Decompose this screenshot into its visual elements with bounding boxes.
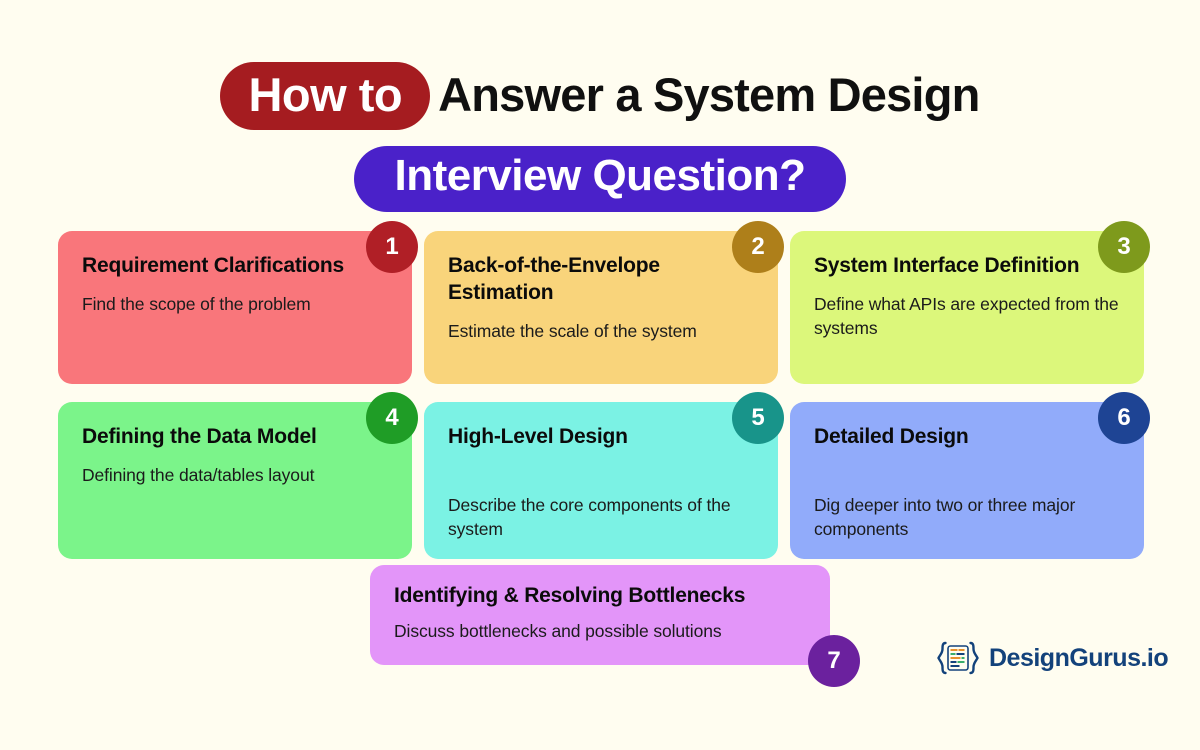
step-number-badge: 4	[366, 392, 418, 444]
step-card-title: Back-of-the-Envelope Estimation	[448, 253, 718, 307]
howto-pill: How to	[220, 62, 430, 130]
poster-header: How to Answer a System Design Interview …	[0, 58, 1200, 212]
step-card-title: Identifying & Resolving Bottlenecks	[394, 583, 806, 610]
designgurus-logo-text: DesignGurus.io	[989, 646, 1168, 671]
step-card-5: High-Level Design Describe the core comp…	[424, 402, 778, 559]
step-number-badge: 1	[366, 221, 418, 273]
step-number-badge: 7	[808, 635, 860, 687]
step-card-title: Defining the Data Model	[82, 424, 352, 451]
step-card-3: System Interface Definition Define what …	[790, 231, 1144, 384]
step-card-2: Back-of-the-Envelope Estimation Estimate…	[424, 231, 778, 384]
interview-question-pill: Interview Question?	[354, 146, 845, 212]
title-line-one: How to Answer a System Design	[0, 58, 1200, 134]
page-title: Answer a System Design	[438, 71, 979, 122]
step-card-title: System Interface Definition	[814, 253, 1084, 280]
designgurus-logo[interactable]: DesignGurus.io	[936, 641, 1168, 675]
designgurus-braces-icon	[936, 641, 980, 675]
step-card-title: Requirement Clarifications	[82, 253, 352, 280]
step-card-4: Defining the Data Model Defining the dat…	[58, 402, 412, 559]
step-number-badge: 2	[732, 221, 784, 273]
title-line-two: Interview Question?	[0, 146, 1200, 212]
step-card-subtitle: Dig deeper into two or three major compo…	[814, 493, 1120, 541]
step-number-badge: 3	[1098, 221, 1150, 273]
step-card-subtitle: Estimate the scale of the system	[448, 319, 754, 343]
step-card-6: Detailed Design Dig deeper into two or t…	[790, 402, 1144, 559]
step-card-subtitle: Find the scope of the problem	[82, 292, 388, 316]
step-number-badge: 6	[1098, 392, 1150, 444]
step-card-7: Identifying & Resolving Bottlenecks Disc…	[370, 565, 830, 665]
step-number-badge: 5	[732, 392, 784, 444]
infographic-poster: How to Answer a System Design Interview …	[0, 0, 1200, 750]
step-card-subtitle: Defining the data/tables layout	[82, 463, 388, 487]
step-card-title: High-Level Design	[448, 424, 718, 451]
step-card-subtitle: Discuss bottlenecks and possible solutio…	[394, 619, 724, 643]
step-card-subtitle: Define what APIs are expected from the s…	[814, 292, 1120, 340]
step-card-title: Detailed Design	[814, 424, 1084, 451]
steps-grid: Requirement Clarifications Find the scop…	[58, 231, 1150, 559]
step-card-subtitle: Describe the core components of the syst…	[448, 493, 754, 541]
step-card-1: Requirement Clarifications Find the scop…	[58, 231, 412, 384]
